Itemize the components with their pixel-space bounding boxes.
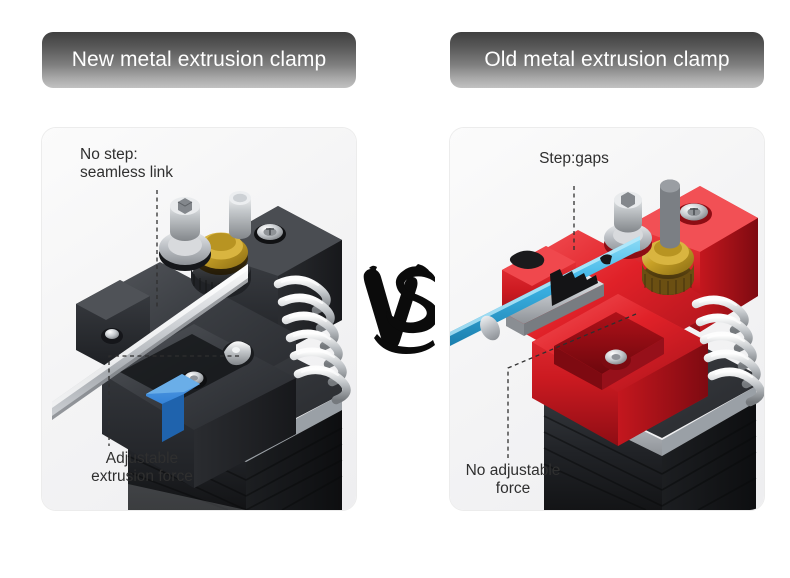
banner-new-clamp: New metal extrusion clamp (42, 32, 356, 88)
banner-old-clamp: Old metal extrusion clamp (450, 32, 764, 88)
callout-no-step: No step: seamless link (80, 146, 173, 182)
vs-brush-mark: VS (363, 262, 435, 354)
product-image-old-extruder (450, 128, 764, 510)
panel-new-clamp: No step: seamless link Adjustable extrus… (42, 128, 356, 510)
idler-bearing-new (159, 197, 211, 271)
callout-no-adjustable-force: No adjustable force (438, 462, 588, 498)
callout-step-gaps: Step:gaps (494, 150, 654, 168)
comparison-stage: New metal extrusion clamp Old metal extr… (0, 0, 790, 578)
shaft-post-new (229, 191, 251, 239)
vs-divider: VS (363, 262, 435, 354)
callout-adjustable-force: Adjustable extrusion force (42, 450, 242, 486)
banner-title-new: New metal extrusion clamp (72, 48, 327, 72)
panel-old-clip (450, 128, 764, 510)
idler-nub-new (222, 341, 254, 367)
banner-title-old: Old metal extrusion clamp (484, 48, 729, 72)
panel-old-clamp: Step:gaps No adjustable force (450, 128, 764, 510)
